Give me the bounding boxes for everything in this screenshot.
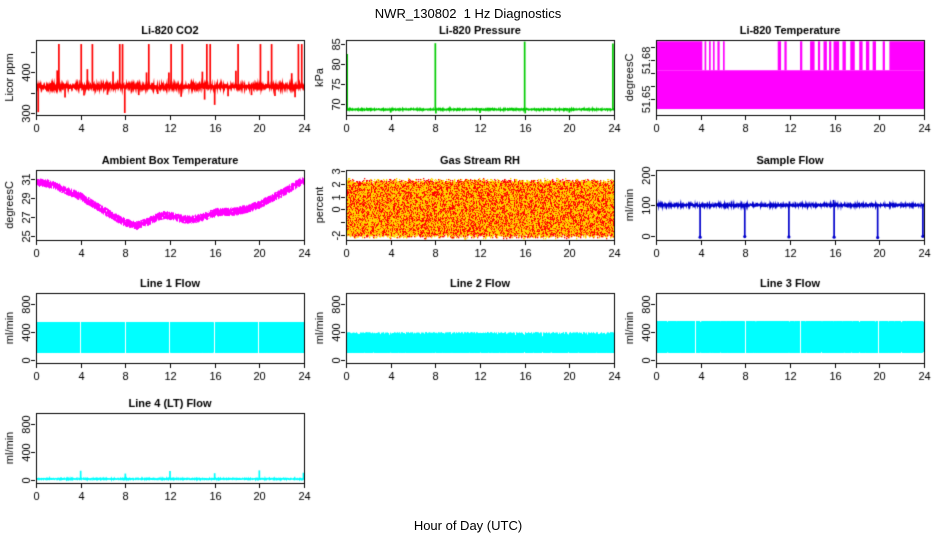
diagnostics-figure: NWR_130802 1 Hz Diagnostics Hour of Day … — [0, 0, 936, 540]
diagnostics-plot-canvas — [0, 0, 936, 540]
